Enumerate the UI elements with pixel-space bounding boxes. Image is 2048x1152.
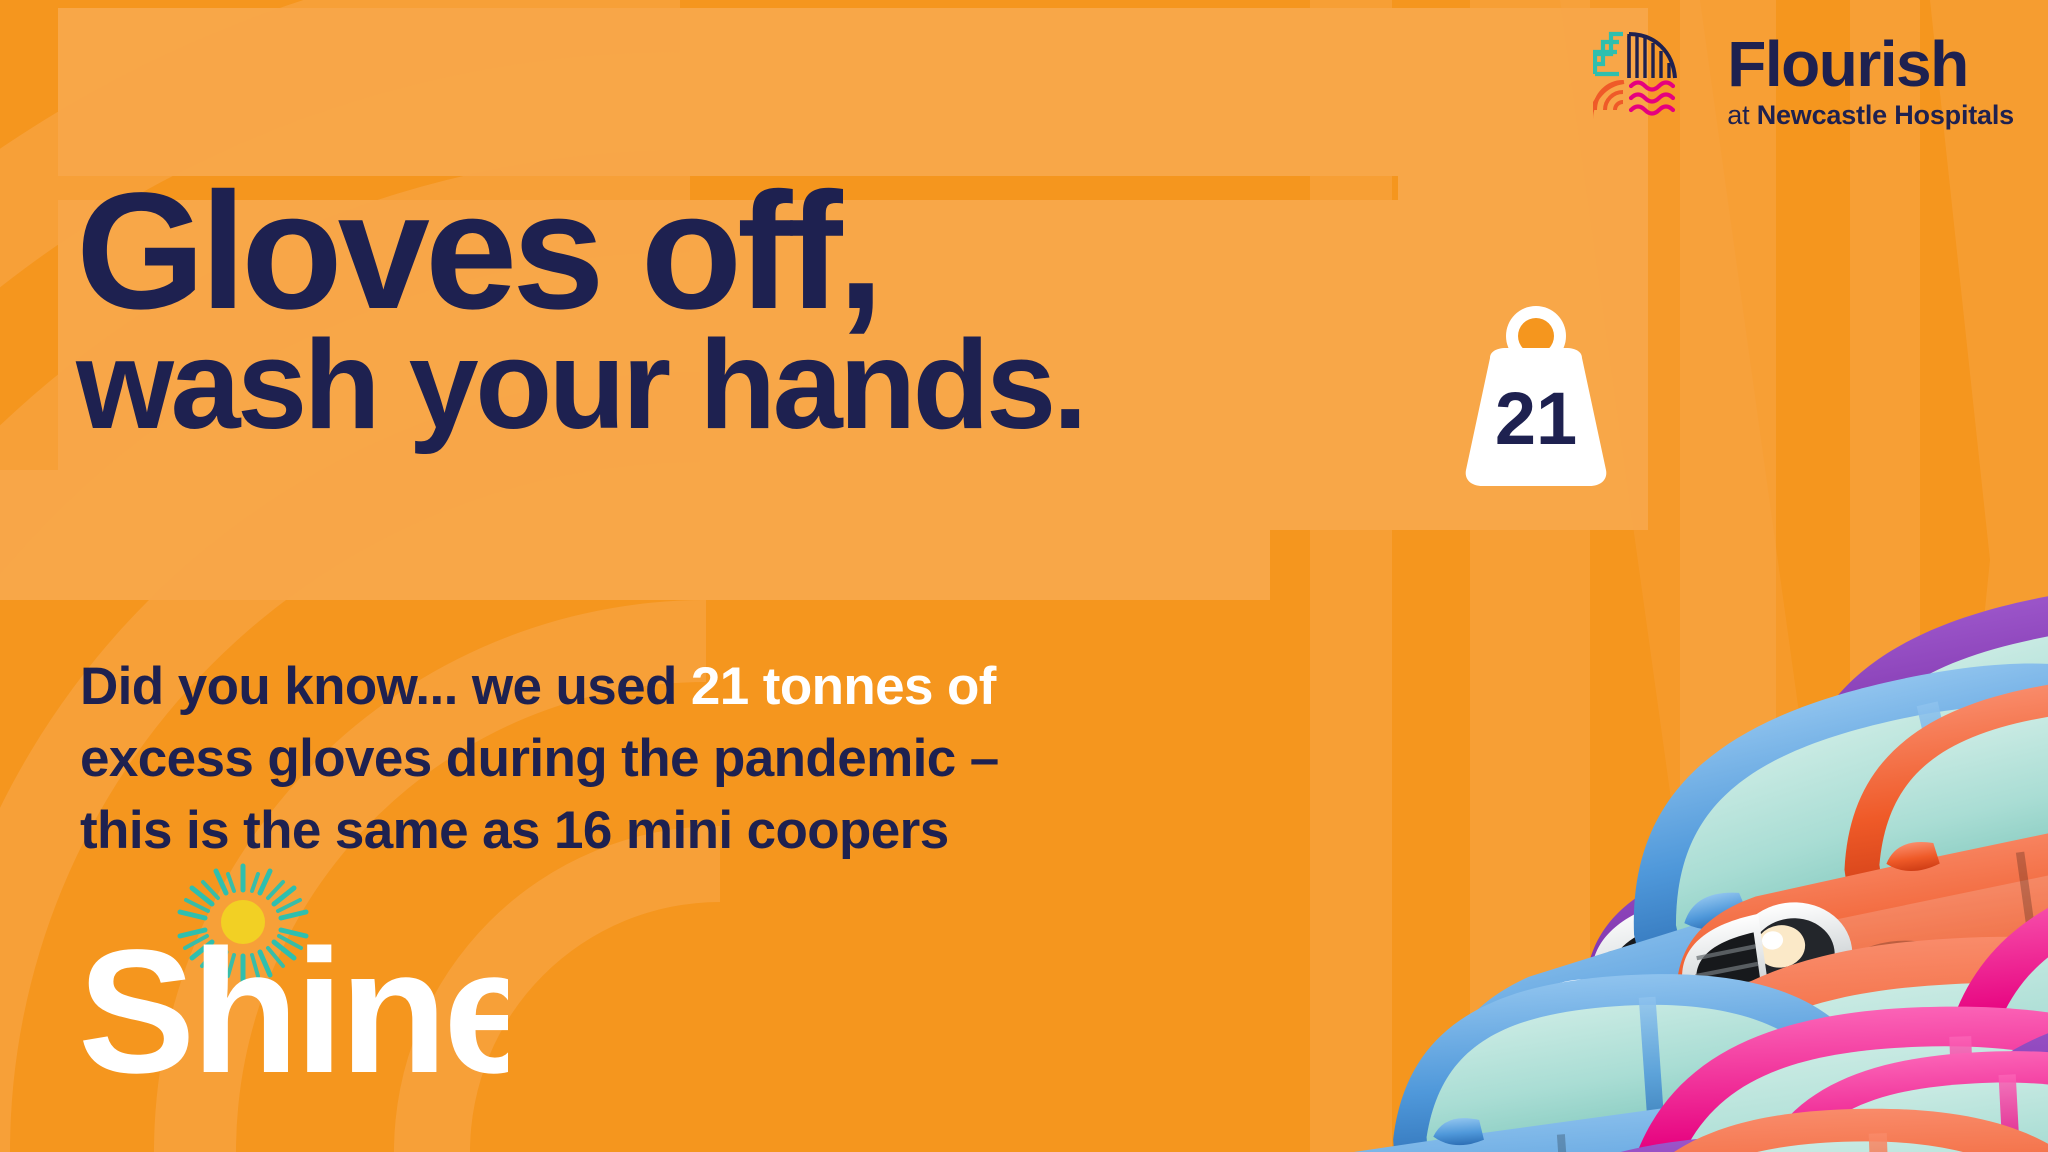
flourish-subtitle: at Newcastle Hospitals xyxy=(1727,102,2014,129)
flourish-at: at xyxy=(1727,100,1756,130)
shine-logo: Shine xyxy=(78,860,508,1090)
flourish-org: Newcastle Hospitals xyxy=(1757,100,2014,130)
weight-value: 21 xyxy=(1495,377,1577,460)
shine-wordmark: Shine xyxy=(78,914,508,1090)
flourish-logo: Flourish at Newcastle Hospitals xyxy=(1593,28,2014,132)
flourish-title: Flourish xyxy=(1727,32,1967,96)
car-pile-illustration: 21 xyxy=(930,232,2048,1152)
body-copy-part-2: excess gloves during the pandemic – this… xyxy=(80,729,999,860)
poster-canvas: Flourish at Newcastle Hospitals Gloves o… xyxy=(0,0,2048,1152)
flourish-bridge-mark-icon xyxy=(1593,28,1705,132)
body-copy-part-1: Did you know... we used xyxy=(80,657,691,716)
weight-icon: 21 xyxy=(1466,306,1607,486)
